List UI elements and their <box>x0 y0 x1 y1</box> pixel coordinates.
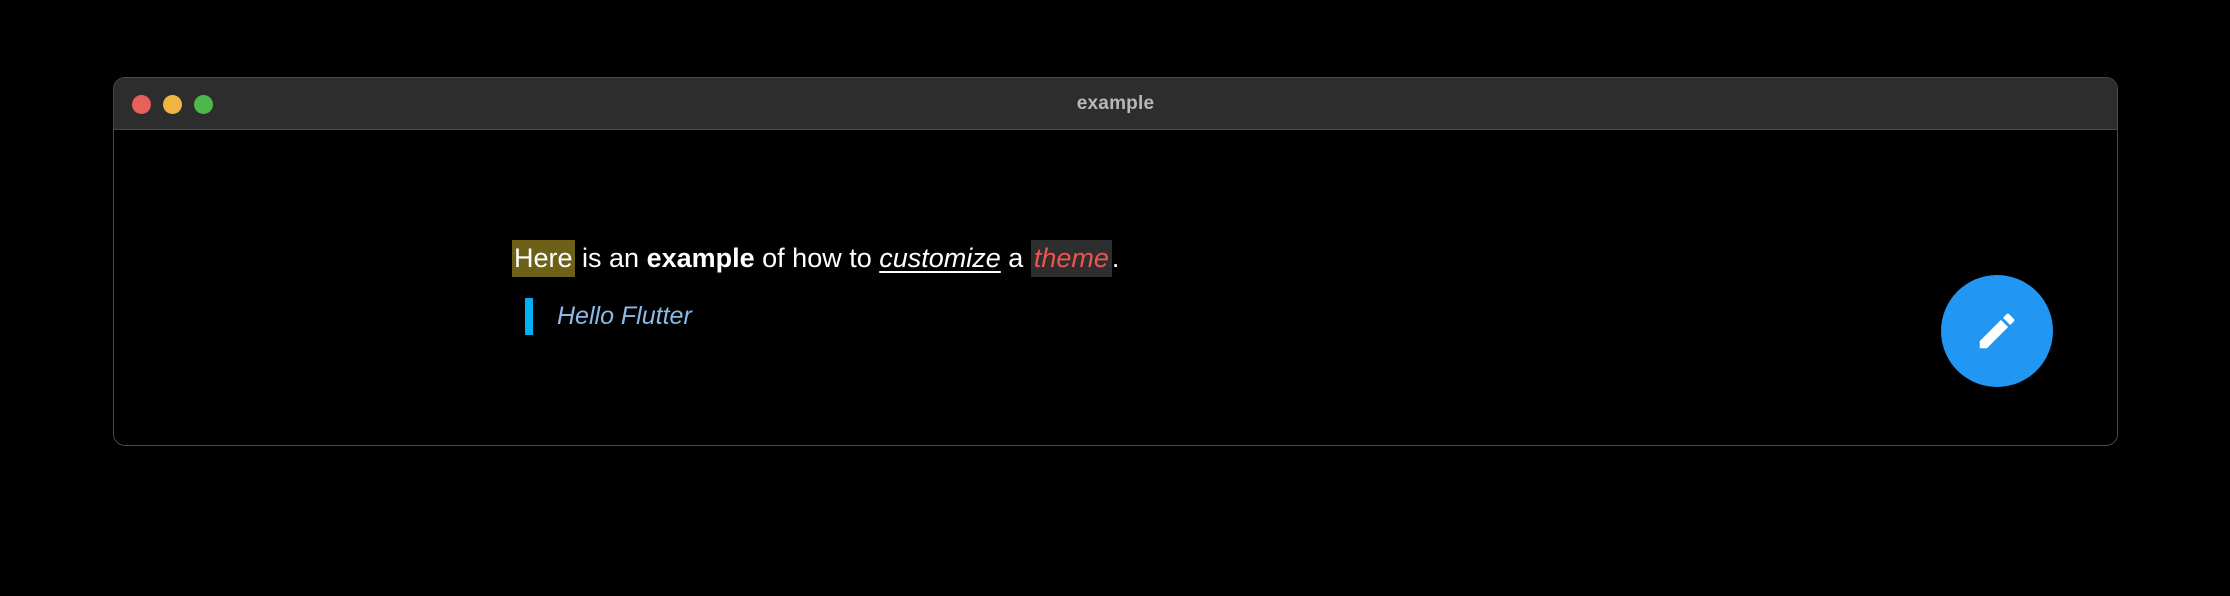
desktop-background: example Here is an example of how to cus… <box>0 0 2230 596</box>
close-button-icon[interactable] <box>132 95 151 114</box>
edit-fab-button[interactable] <box>1941 275 2053 387</box>
app-window: example Here is an example of how to cus… <box>113 77 2118 446</box>
rich-text-segment-bold: example <box>647 243 755 273</box>
window-title: example <box>114 93 2117 115</box>
rich-text-segment-plain-1: is an <box>575 243 647 273</box>
rich-text-segment-period: . <box>1112 243 1120 273</box>
maximize-button-icon[interactable] <box>194 95 213 114</box>
window-content-area: Here is an example of how to customize a… <box>114 130 2117 445</box>
blockquote-bar-icon <box>525 298 533 335</box>
rich-text-segment-highlight: Here <box>512 240 575 277</box>
pencil-edit-icon <box>1974 308 2020 354</box>
rich-text-segment-plain-3: a <box>1001 243 1031 273</box>
rich-text-segment-theme: theme <box>1031 240 1112 277</box>
blockquote-text: Hello Flutter <box>557 298 692 335</box>
window-titlebar[interactable]: example <box>114 78 2117 130</box>
minimize-button-icon[interactable] <box>163 95 182 114</box>
blockquote: Hello Flutter <box>525 298 692 335</box>
window-controls <box>132 78 213 130</box>
rich-text-segment-italic-underline: customize <box>879 243 1001 273</box>
rich-text-paragraph: Here is an example of how to customize a… <box>512 243 1119 274</box>
rich-text-segment-plain-2: of how to <box>755 243 880 273</box>
